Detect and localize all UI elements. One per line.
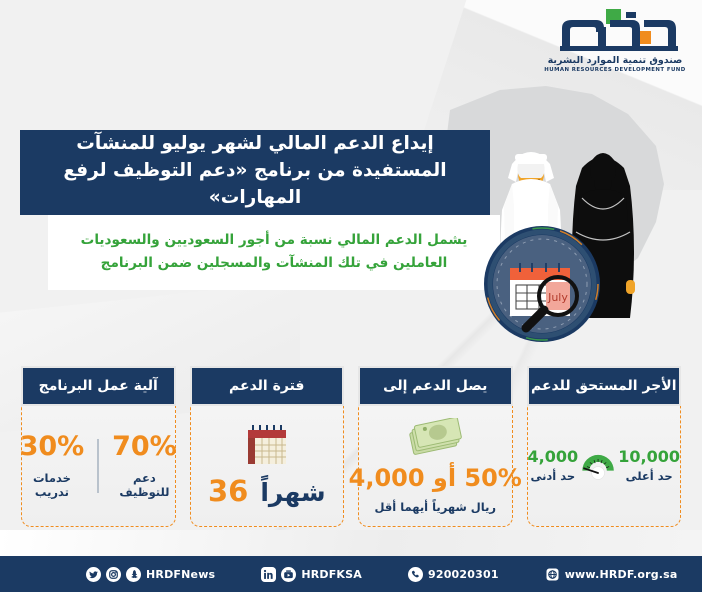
support-period-unit: شهراً — [260, 478, 325, 507]
footer-social-news[interactable]: HRDFNews — [86, 567, 215, 582]
card-body-program-mechanism: 70% دعم للتوظيف 30% خدمات تدريب — [21, 405, 176, 527]
globe-icon[interactable] — [545, 567, 560, 582]
snapchat-icon[interactable] — [126, 567, 141, 582]
card-body-eligible-wage: 10,000 حد أعلى — [527, 405, 682, 527]
footer-label-ksa: HRDFKSA — [301, 568, 362, 581]
footer-label-website: www.HRDF.org.sa — [565, 568, 678, 581]
twitter-icon[interactable] — [86, 567, 101, 582]
support-amount-value: 50% أو 4,000 — [349, 464, 522, 492]
footer-phone[interactable]: 920020301 — [408, 567, 499, 582]
support-period-number: 36 — [208, 474, 248, 508]
linkedin-icon[interactable] — [261, 567, 276, 582]
calendar-badge: July — [482, 224, 602, 344]
stat-cards-row: آلية عمل البرنامج 70% دعم للتوظيف 30% خد… — [0, 366, 702, 544]
instagram-icon[interactable] — [106, 567, 121, 582]
youtube-icon[interactable] — [281, 567, 296, 582]
gauge-icon — [580, 438, 616, 494]
stat-employment-support: 70% دعم للتوظيف — [99, 432, 190, 499]
badge-month-label: July — [547, 291, 568, 304]
footer-social-ksa[interactable]: HRDFKSA — [261, 567, 362, 582]
page-subtitle: يشمل الدعم المالي نسبة من أجور السعوديين… — [66, 229, 482, 275]
calendar-icon — [244, 424, 290, 466]
hrdf-logo: صندوق تنمية الموارد البشرية HUMAN RESOUR… — [540, 8, 690, 82]
main-title-banner: إيداع الدعم المالي لشهر يوليو للمنشآت ال… — [20, 130, 490, 215]
wage-min-label: حد أدنى — [528, 469, 579, 483]
footer-website[interactable]: www.HRDF.org.sa — [545, 567, 678, 582]
employment-support-label: دعم للتوظيف — [112, 471, 177, 499]
card-program-mechanism: آلية عمل البرنامج 70% دعم للتوظيف 30% خد… — [14, 366, 183, 544]
wage-max-label: حد أعلى — [618, 469, 680, 483]
card-header-eligible-wage: الأجر المستحق للدعم — [527, 366, 682, 406]
footer-label-phone: 920020301 — [428, 568, 499, 581]
wage-min-value: 4,000 — [528, 448, 579, 466]
wage-min: 4,000 حد أدنى — [528, 448, 579, 483]
divider — [97, 439, 99, 493]
phone-icon[interactable] — [408, 567, 423, 582]
stat-training-services: 30% خدمات تدريب — [7, 432, 98, 499]
footer-label-news: HRDFNews — [146, 568, 215, 581]
card-header-program-mechanism: آلية عمل البرنامج — [21, 366, 176, 406]
hrdf-logo-mark — [540, 8, 690, 54]
wage-max-value: 10,000 — [618, 448, 680, 466]
subtitle-box: يشمل الدعم المالي نسبة من أجور السعوديين… — [48, 215, 500, 290]
support-amount-note: ريال شهرياً أيهما أقل — [374, 500, 496, 514]
infographic-canvas: صندوق تنمية الموارد البشرية HUMAN RESOUR… — [0, 0, 702, 592]
money-icon — [404, 418, 466, 458]
logo-name-en: HUMAN RESOURCES DEVELOPMENT FUND — [540, 66, 690, 74]
card-body-support-amount: 50% أو 4,000 ريال شهرياً أيهما أقل — [358, 405, 513, 527]
training-services-label: خدمات تدريب — [20, 471, 85, 499]
footer-bar: HRDFNews HRDFKSA 920020301 — [0, 556, 702, 592]
card-support-amount: يصل الدعم إلى 50% أو 4,000 ريال شهرياً أ… — [351, 366, 520, 544]
employment-support-value: 70% — [112, 432, 177, 462]
card-header-support-amount: يصل الدعم إلى — [358, 366, 513, 406]
wage-max: 10,000 حد أعلى — [618, 448, 680, 483]
card-eligible-wage: الأجر المستحق للدعم 10,000 حد أعلى — [520, 366, 689, 544]
page-title: إيداع الدعم المالي لشهر يوليو للمنشآت ال… — [36, 130, 474, 211]
card-support-period: فترة الدعم — [183, 366, 352, 544]
logo-name-ar: صندوق تنمية الموارد البشرية — [540, 55, 690, 66]
card-body-support-period: 36 شهراً — [190, 405, 345, 527]
training-services-value: 30% — [20, 432, 85, 462]
card-header-support-period: فترة الدعم — [190, 366, 345, 406]
